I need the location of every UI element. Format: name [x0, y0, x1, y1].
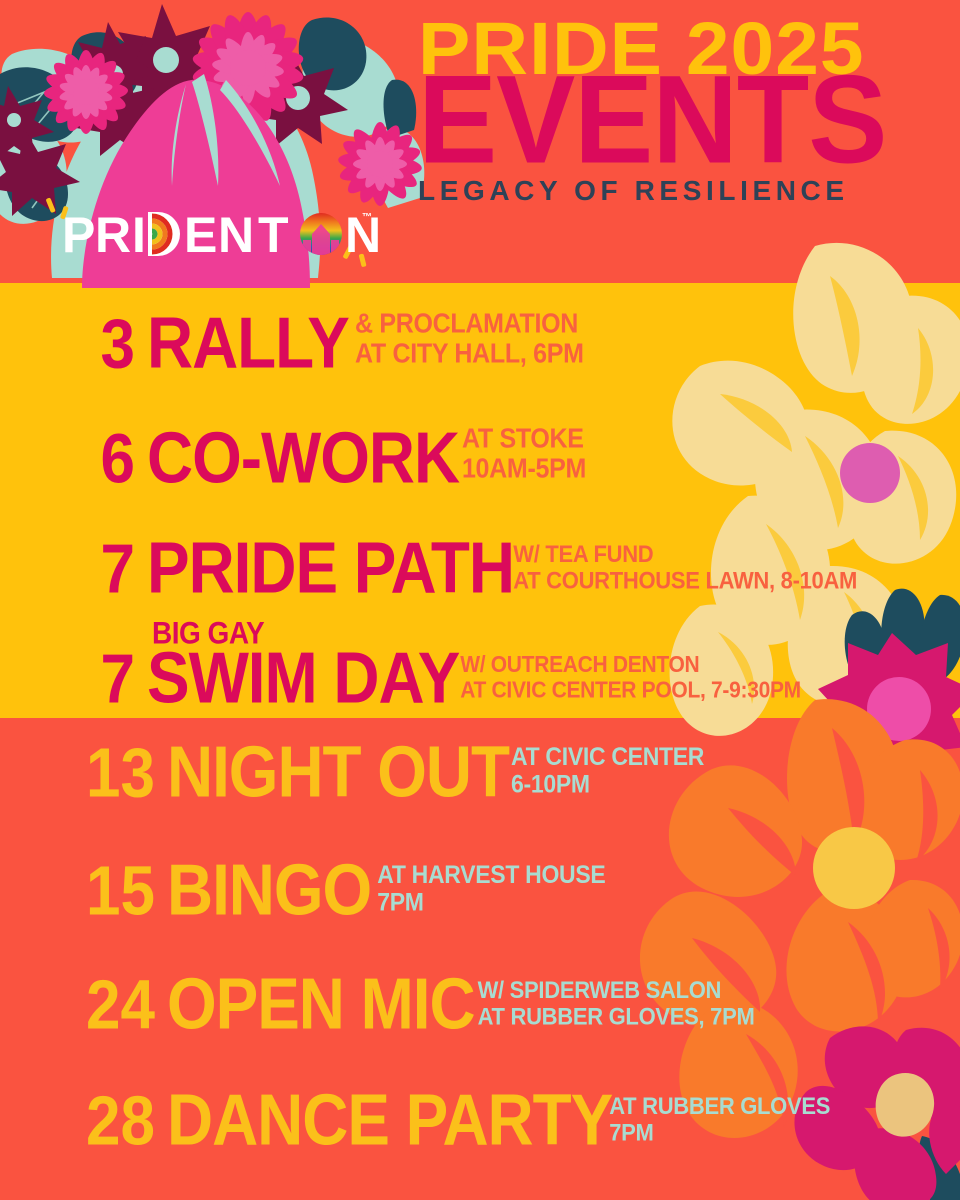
event-meta-line-2: 7PM: [377, 888, 605, 915]
event-row-open-mic[interactable]: 24 OPEN MIC W/ SPIDERWEB SALON AT RUBBER…: [0, 982, 754, 1034]
event-title: SWIM DAY: [147, 650, 459, 708]
event-meta-line-1: AT HARVEST HOUSE: [377, 861, 605, 888]
event-day-number: 3: [0, 317, 135, 373]
event-day-number: 7: [0, 652, 135, 708]
event-day-number: 15: [0, 864, 155, 920]
event-meta-line-1: & PROCLAMATION: [355, 310, 584, 340]
event-meta-line-1: AT STOKE: [462, 425, 586, 455]
event-title: OPEN MIC: [167, 976, 475, 1034]
poster-title-block: PRIDE 2025 EVENTS LEGACY OF RESILIENCE: [418, 18, 948, 205]
event-row-dance-party[interactable]: 28 DANCE PARTY AT RUBBER GLOVES 7PM: [0, 1098, 830, 1150]
event-meta-line-1: AT RUBBER GLOVES: [609, 1093, 830, 1119]
event-meta-line-1: W/ SPIDERWEB SALON: [478, 977, 755, 1003]
event-meta-line-1: AT CIVIC CENTER: [511, 743, 704, 770]
title-events: EVENTS: [418, 68, 960, 173]
event-title: BINGO: [167, 862, 371, 920]
logo-letter-P: P: [62, 207, 96, 263]
event-meta-line-2: AT CIVIC CENTER POOL, 7-9:30PM: [460, 679, 801, 704]
pride-events-poster: P R I E N T N: [0, 0, 960, 1200]
event-day-number: 7: [0, 542, 135, 598]
logo-letter-I: I: [132, 207, 147, 263]
event-meta-line-2: AT COURTHOUSE LAWN, 8-10AM: [513, 567, 857, 593]
coral-events-list: 13 NIGHT OUT AT CIVIC CENTER 6-10PM 15 B…: [0, 718, 960, 1200]
event-title: NIGHT OUT: [167, 744, 509, 802]
event-row-night-out[interactable]: 13 NIGHT OUT AT CIVIC CENTER 6-10PM: [0, 748, 704, 802]
event-meta-line-1: W/ OUTREACH DENTON: [460, 654, 801, 679]
event-day-number: 6: [0, 432, 135, 488]
logo-letter-N: N: [218, 207, 255, 263]
logo-letter-E: E: [184, 207, 218, 263]
event-meta-line-1: W/ TEA FUND: [513, 541, 857, 567]
logo-rainbow-courthouse-O-icon: [300, 213, 342, 256]
event-title: CO-WORK: [147, 430, 459, 488]
logo-trademark-symbol: ™: [362, 212, 372, 223]
logo-letter-R: R: [95, 207, 132, 263]
event-row-big-gay-swim-day[interactable]: BIG GAY 7 SWIM DAY W/ OUTREACH DENTON AT…: [0, 658, 801, 708]
event-row-pride-path[interactable]: 7 PRIDE PATH W/ TEA FUND AT COURTHOUSE L…: [0, 546, 857, 598]
event-meta-line-2: 10AM-5PM: [462, 454, 586, 484]
event-title: RALLY: [147, 315, 349, 373]
event-title: PRIDE PATH: [147, 540, 514, 598]
event-day-number: 13: [0, 746, 155, 802]
event-title: DANCE PARTY: [167, 1092, 612, 1150]
event-meta-line-2: AT CITY HALL, 6PM: [355, 339, 584, 369]
pridenton-logo: P R I E N T N: [62, 204, 372, 260]
yellow-events-list: 3 RALLY & PROCLAMATION AT CITY HALL, 6PM…: [0, 283, 960, 718]
event-meta-line-2: 7PM: [609, 1119, 830, 1145]
event-row-rally[interactable]: 3 RALLY & PROCLAMATION AT CITY HALL, 6PM: [0, 315, 584, 373]
event-day-number: 24: [0, 978, 155, 1034]
event-meta-line-2: 6-10PM: [511, 770, 704, 797]
event-meta-line-2: AT RUBBER GLOVES, 7PM: [478, 1003, 755, 1029]
event-row-co-work[interactable]: 6 CO-WORK AT STOKE 10AM-5PM: [0, 430, 586, 488]
logo-letter-T: T: [258, 207, 290, 263]
logo-rainbow-D-icon: [148, 212, 180, 256]
event-row-bingo[interactable]: 15 BINGO AT HARVEST HOUSE 7PM: [0, 866, 605, 920]
event-day-number: 28: [0, 1094, 155, 1150]
